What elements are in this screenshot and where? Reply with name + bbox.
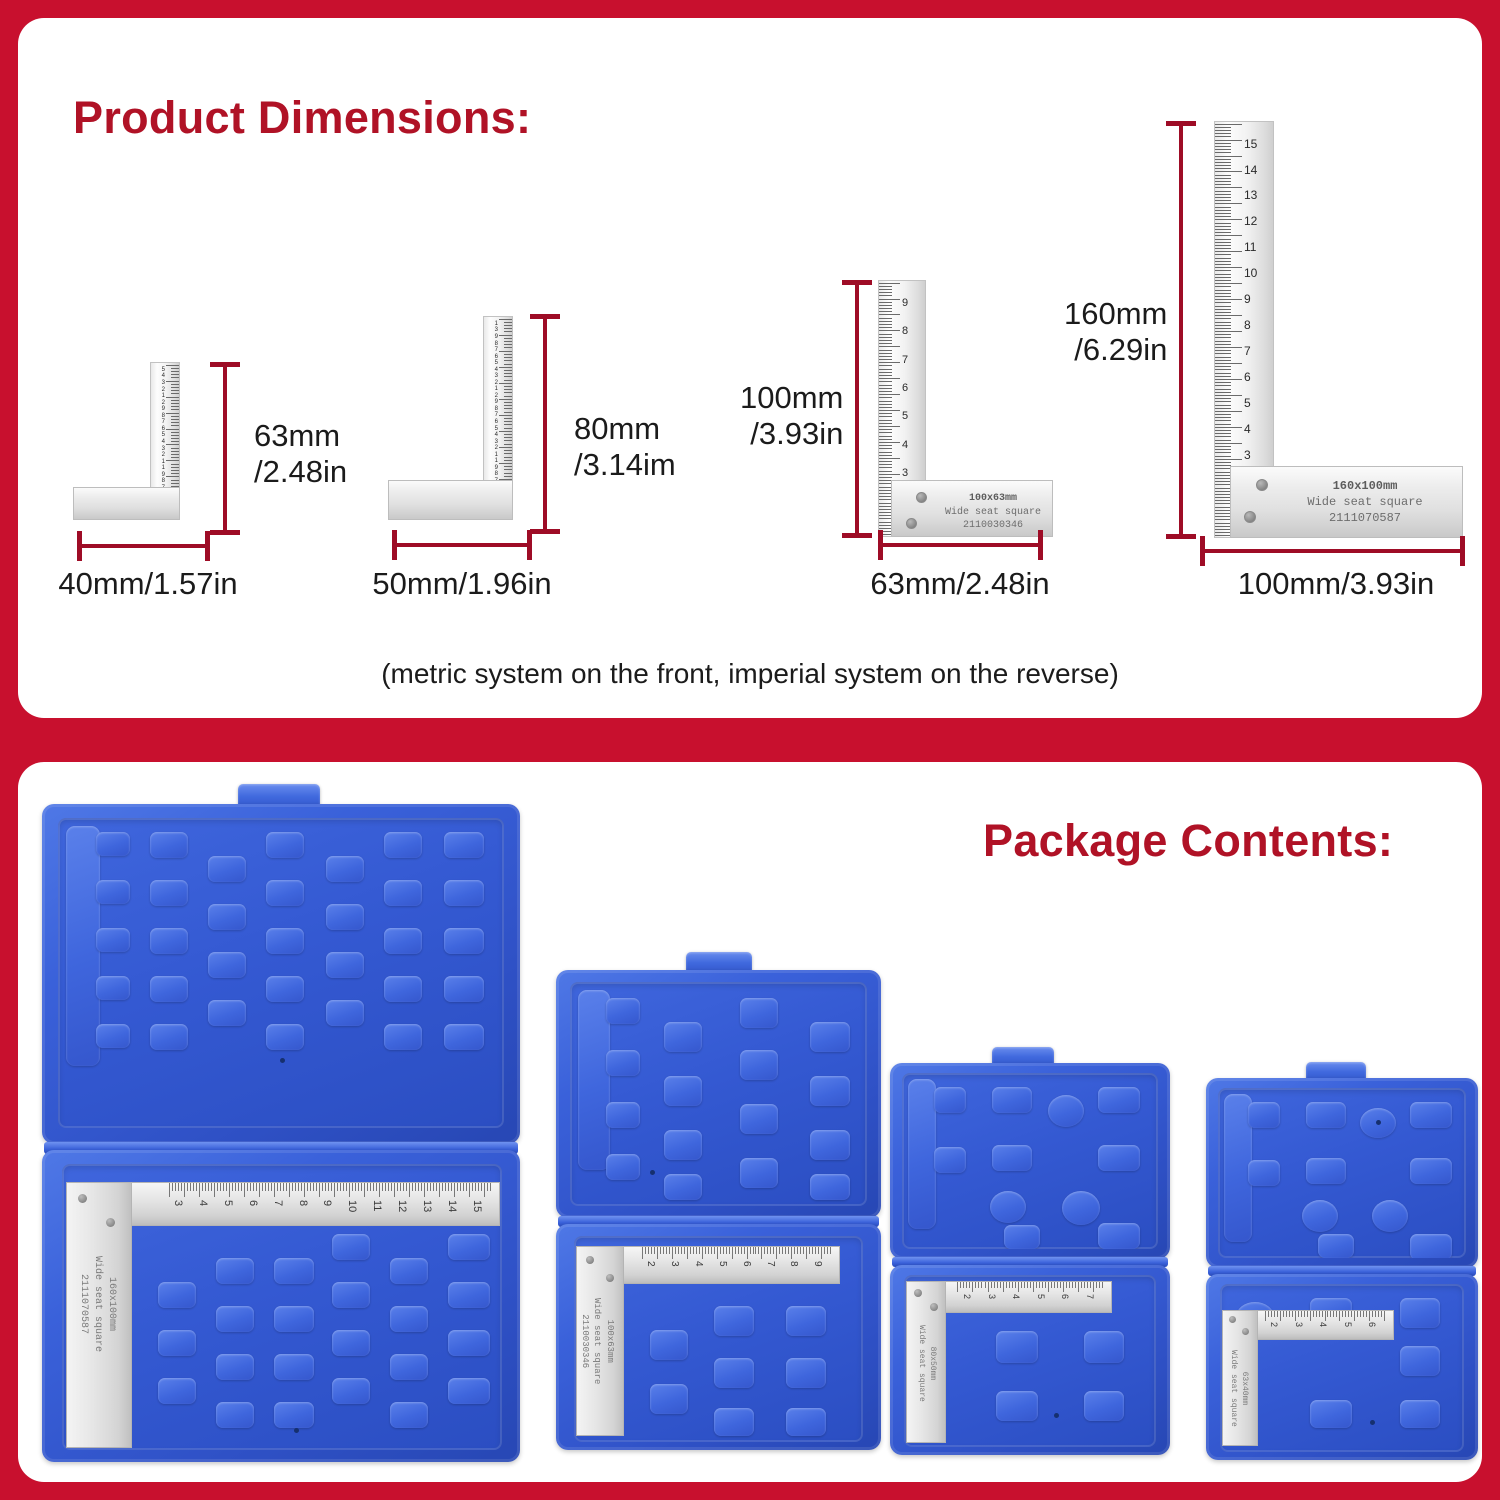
lid-pinhole <box>1376 1120 1381 1125</box>
engraving-line2: Wide seat square <box>1280 494 1450 510</box>
packed-engraving-line3: 2110030346 <box>578 1298 591 1384</box>
case-160x100: 3456789101112131415 160x100mm Wide seat … <box>30 784 530 1464</box>
packed-50x80-engraving: 80x50mm Wide seat square <box>916 1325 938 1402</box>
square-40x63-blade: 5432129876543211987 <box>150 362 180 495</box>
infographic-root: Product Dimensions: 5432129876543211987 … <box>0 0 1500 1500</box>
case-50x80: 234567 80x50mm Wide seat square <box>880 1047 1180 1457</box>
square-40x63: 5432129876543211987 <box>73 348 273 538</box>
square-63x100: 98765432 100x63mm Wide seat square 21100… <box>873 280 1063 545</box>
dim-40mm-label: 40mm/1.57in <box>48 566 248 602</box>
case-50x80-base-tray: 234567 80x50mm Wide seat square <box>904 1275 1156 1447</box>
case-40x63-base[interactable]: 23456 63x40mm Wide seat square <box>1206 1274 1478 1460</box>
case-100x63: 23456789 100x63mm Wide seat square 21100… <box>546 952 891 1452</box>
packed-engraving-line1: 160x100mm <box>104 1256 118 1352</box>
case-160x100-base-tray: 3456789101112131415 160x100mm Wide seat … <box>62 1164 502 1450</box>
case-100x63-lid-tray <box>570 982 867 1206</box>
packed-engraving-line2: Wide seat square <box>916 1325 927 1402</box>
engraving-line1: 100x63mm <box>935 492 1051 506</box>
dim-63mm-label-line2: /2.48in <box>254 454 347 490</box>
case-40x63-lid-tray <box>1218 1088 1466 1258</box>
packed-100x63-blade: 23456789 <box>592 1246 840 1284</box>
packed-160x100-blade: 3456789101112131415 <box>86 1182 500 1226</box>
dim-63mm-label: 63mm /2.48in <box>254 418 347 490</box>
case-160x100-base[interactable]: 3456789101112131415 160x100mm Wide seat … <box>42 1150 520 1462</box>
square-50x80-beam <box>388 480 513 520</box>
square-100x160-engraving: 160x100mm Wide seat square 2111070587 <box>1280 478 1450 527</box>
dim-80mm-label-line1: 80mm <box>574 411 676 447</box>
dim-100mm-width-line <box>1200 536 1465 566</box>
square-50x80-blade: 1398765432129876543211987 <box>483 316 513 488</box>
dim-160mm-line <box>1166 121 1196 539</box>
case-50x80-lid[interactable] <box>890 1063 1170 1259</box>
square-63x100-rivet-bottom <box>906 518 917 529</box>
lid-pinhole <box>280 1058 285 1063</box>
packed-engraving-line2: Wide seat square <box>591 1298 604 1384</box>
case-100x63-base[interactable]: 23456789 100x63mm Wide seat square 21100… <box>556 1224 881 1450</box>
case-100x63-lid[interactable] <box>556 970 881 1218</box>
case-160x100-lid[interactable] <box>42 804 520 1144</box>
case-40x63-base-tray: 23456 63x40mm Wide seat square <box>1220 1284 1464 1452</box>
dim-100mm-label-line2: /3.93in <box>740 416 843 452</box>
engraving-line3: 2111070587 <box>1280 510 1450 526</box>
square-100x160-rivet-top <box>1256 479 1268 491</box>
engraving-line2: Wide seat square <box>935 506 1051 520</box>
package-contents-title: Package Contents: <box>983 815 1393 867</box>
case-40x63: 23456 63x40mm Wide seat square <box>1196 1062 1488 1462</box>
dim-80mm-label: 80mm /3.14im <box>574 411 676 483</box>
dim-63mm-line <box>210 362 240 535</box>
packed-engraving-line2: Wide seat square <box>90 1256 104 1352</box>
packed-engraving-line1: 100x63mm <box>603 1298 616 1384</box>
packed-engraving-line2: Wide seat square <box>1228 1350 1239 1427</box>
measurement-system-caption: (metric system on the front, imperial sy… <box>18 658 1482 690</box>
case-100x63-base-tray: 23456789 100x63mm Wide seat square 21100… <box>574 1236 863 1442</box>
dim-63mm-width-label: 63mm/2.48in <box>860 566 1060 602</box>
square-100x160-rivet-bottom <box>1244 511 1256 523</box>
square-63x100-rivet-top <box>916 492 927 503</box>
case-50x80-lid-tray <box>902 1073 1158 1249</box>
packed-100x63-engraving: 100x63mm Wide seat square 2110030346 <box>578 1298 616 1384</box>
package-contents-panel: Package Contents: <box>18 762 1482 1482</box>
dim-100mm-width-label: 100mm/3.93in <box>1216 566 1456 602</box>
case-160x100-lid-tray <box>58 818 504 1128</box>
dim-50mm-line <box>392 530 532 560</box>
dim-40mm-line <box>77 531 210 561</box>
dim-100mm-label: 100mm /3.93in <box>740 380 843 452</box>
case-50x80-base[interactable]: 234567 80x50mm Wide seat square <box>890 1265 1170 1455</box>
product-dimensions-panel: Product Dimensions: 5432129876543211987 … <box>18 18 1482 718</box>
dim-160mm-label: 160mm /6.29in <box>1064 296 1167 368</box>
packed-160x100-engraving: 160x100mm Wide seat square 2111070587 <box>76 1256 118 1352</box>
dim-50mm-label: 50mm/1.96in <box>362 566 562 602</box>
dim-100mm-label-line1: 100mm <box>740 380 843 416</box>
packed-50x80-blade: 234567 <box>918 1281 1112 1313</box>
dim-80mm-line <box>530 314 560 534</box>
packed-engraving-line3: 2111070587 <box>76 1256 90 1352</box>
packed-engraving-line1: 63x40mm <box>1239 1350 1250 1427</box>
product-dimensions-title: Product Dimensions: <box>73 92 531 144</box>
dim-100mm-line <box>842 280 872 538</box>
dim-160mm-label-line2: /6.29in <box>1064 332 1167 368</box>
dim-63mm-width-line <box>878 530 1043 560</box>
packed-engraving-line1: 80x50mm <box>927 1325 938 1402</box>
square-63x100-engraving: 100x63mm Wide seat square 2110030346 <box>935 492 1051 533</box>
square-40x63-beam <box>73 487 180 520</box>
square-100x160: 151413121110987654321 160x100mm Wide sea… <box>1208 121 1468 546</box>
case-40x63-lid[interactable] <box>1206 1078 1478 1268</box>
dim-80mm-label-line2: /3.14im <box>574 447 676 483</box>
packed-40x63-engraving: 63x40mm Wide seat square <box>1228 1350 1250 1427</box>
dim-160mm-label-line1: 160mm <box>1064 296 1167 332</box>
engraving-line1: 160x100mm <box>1280 478 1450 494</box>
dim-63mm-label-line1: 63mm <box>254 418 347 454</box>
